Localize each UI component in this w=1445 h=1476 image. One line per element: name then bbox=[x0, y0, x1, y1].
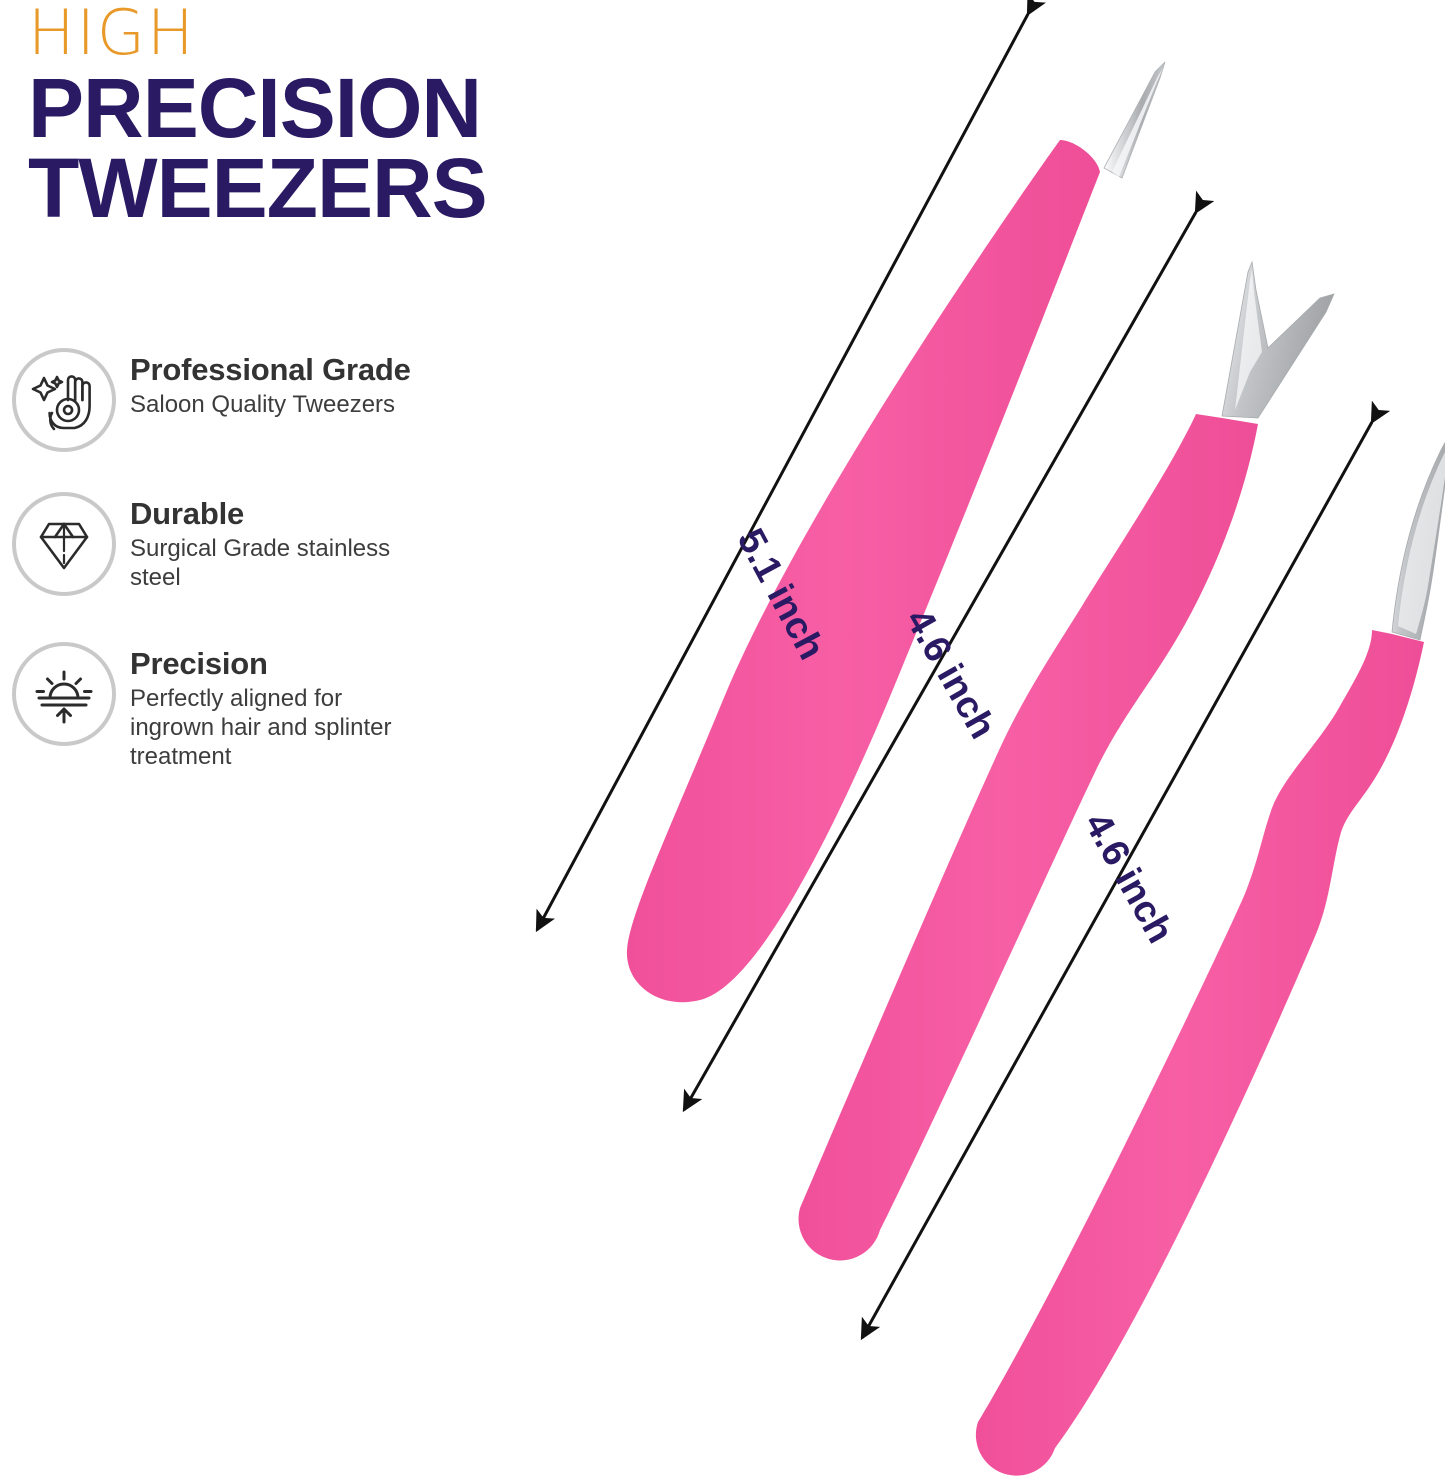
page-title: HIGH PRECISION TWEEZERS bbox=[28, 4, 668, 228]
tweezer-tip-steel bbox=[1104, 62, 1165, 178]
feature-text: Precision Perfectly aligned for ingrown … bbox=[130, 642, 420, 772]
curved-tip-tweezer bbox=[976, 437, 1445, 1476]
feature-item-durable: Durable Surgical Grade stainless steel bbox=[12, 492, 464, 596]
feature-subtitle: Saloon Quality Tweezers bbox=[130, 390, 411, 419]
feature-title: Durable bbox=[130, 498, 420, 531]
feature-title: Precision bbox=[130, 648, 420, 681]
feature-text: Professional Grade Saloon Quality Tweeze… bbox=[130, 348, 411, 419]
tweezer-handle bbox=[976, 630, 1424, 1476]
tweezer-handle bbox=[799, 414, 1258, 1260]
dimension-label-2: 4.6 inch bbox=[897, 602, 1004, 746]
title-eyebrow: HIGH bbox=[28, 4, 668, 63]
tweezer-handle bbox=[627, 140, 1100, 1002]
title-main: PRECISION TWEEZERS bbox=[28, 69, 668, 229]
feature-subtitle: Perfectly aligned for ingrown hair and s… bbox=[130, 684, 420, 772]
title-line-2: TWEEZERS bbox=[28, 149, 668, 229]
angled-v-tip-tweezer bbox=[799, 262, 1334, 1260]
feature-item-precision: Precision Perfectly aligned for ingrown … bbox=[12, 642, 464, 772]
dimension-line-3: 4.6 inch bbox=[862, 422, 1372, 1338]
tweezer-tip-steel bbox=[1392, 437, 1445, 640]
hand-ok-sparkle-icon bbox=[12, 348, 116, 452]
feature-list: Professional Grade Saloon Quality Tweeze… bbox=[12, 348, 464, 806]
feature-title: Professional Grade bbox=[130, 354, 411, 387]
diamond-icon bbox=[12, 492, 116, 596]
dimension-line-2: 4.6 inch bbox=[684, 212, 1196, 1110]
feature-item-professional-grade: Professional Grade Saloon Quality Tweeze… bbox=[12, 348, 464, 452]
dimension-label-3: 4.6 inch bbox=[1076, 806, 1182, 950]
tweezer-tip-steel bbox=[1222, 262, 1334, 418]
feature-text: Durable Surgical Grade stainless steel bbox=[130, 492, 420, 592]
dimension-label-1: 5.1 inch bbox=[729, 522, 833, 667]
sunrise-arrow-icon bbox=[12, 642, 116, 746]
feature-subtitle: Surgical Grade stainless steel bbox=[130, 534, 420, 593]
infographic-canvas: HIGH PRECISION TWEEZERS bbox=[0, 0, 1445, 1476]
straight-point-tweezer bbox=[627, 62, 1165, 1051]
